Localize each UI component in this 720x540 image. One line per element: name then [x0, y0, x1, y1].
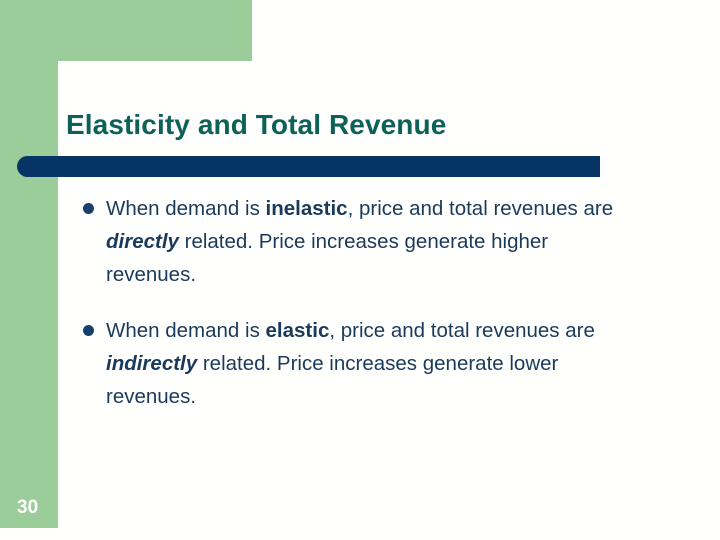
bullet-text: When demand is elastic, price and total … — [106, 319, 595, 408]
decorative-green-top-band — [0, 0, 252, 61]
slide-title: Elasticity and Total Revenue — [66, 108, 686, 142]
slide-canvas: Elasticity and Total Revenue When demand… — [0, 0, 720, 540]
title-underline-bar — [17, 156, 600, 177]
list-item: When demand is elastic, price and total … — [78, 314, 638, 413]
slide-number: 30 — [17, 497, 38, 519]
bullet-dot-icon — [83, 203, 94, 214]
bullet-text: When demand is inelastic, price and tota… — [106, 197, 613, 286]
bullet-list: When demand is inelastic, price and tota… — [78, 192, 638, 413]
decorative-green-left-column — [0, 61, 58, 528]
bullet-dot-icon — [83, 325, 94, 336]
list-item: When demand is inelastic, price and tota… — [78, 192, 638, 291]
